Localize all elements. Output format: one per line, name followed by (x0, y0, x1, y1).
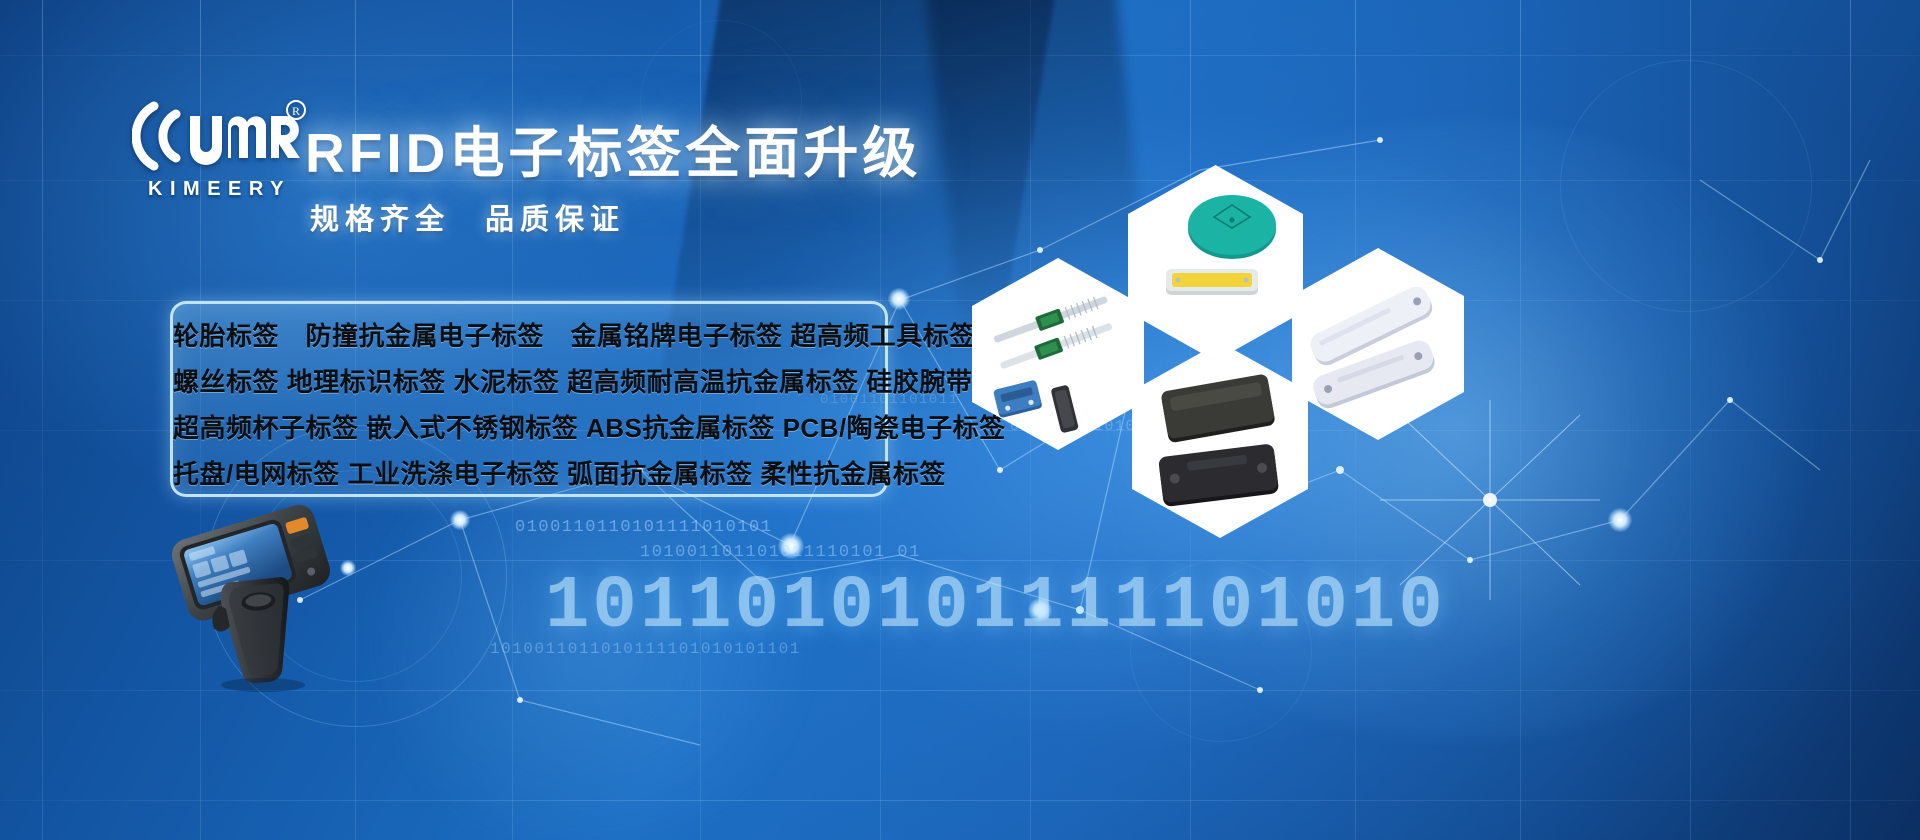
rfid-promo-banner: 0100110110101111010101 10100110110101111… (0, 0, 1920, 840)
kimeery-wordmark: KIMEERY (132, 178, 307, 201)
product-list-box: 轮胎标签 防撞抗金属电子标签 金属铭牌电子标签 超高频工具标签 螺丝标签 地理标… (170, 301, 888, 497)
kimeery-logo-mark: R (132, 96, 307, 176)
handheld-rfid-reader (155, 505, 370, 695)
hex-cell-round-teal-tag (1128, 165, 1303, 361)
product-list-row: 螺丝标签 地理标识标签 水泥标签 超高频耐高温抗金属标签 硅胶腕带 (173, 359, 885, 405)
lens-flare (1380, 400, 1600, 600)
product-list-row: 托盘/电网标签 工业洗涤电子标签 弧面抗金属标签 柔性抗金属标签 (173, 451, 885, 497)
product-list-row: 轮胎标签 防撞抗金属电子标签 金属铭牌电子标签 超高频工具标签 (173, 313, 885, 359)
binary-line: 0100110110101111010101 (515, 518, 772, 537)
binary-large-text: 1011010101111101010 (545, 565, 1446, 649)
hex-cell-black-anti-metal-tags (1132, 342, 1308, 538)
svg-text:R: R (292, 104, 300, 118)
hex-cell-white-flexible-tags (1292, 248, 1464, 440)
binary-line: 1010011011010111101010101101 (490, 640, 801, 658)
page-subtitle: 规格齐全 品质保证 (310, 196, 625, 238)
white-flexible-rfid-tags (1292, 248, 1464, 440)
registered-trademark-icon: R (287, 101, 305, 119)
product-list-row: 超高频杯子标签 嵌入式不锈钢标签 ABS抗金属标签 PCB/陶瓷电子标签 (173, 405, 885, 451)
binary-line: 101001101101011110101 01 (640, 543, 921, 562)
kimeery-logo: R KIMEERY (132, 96, 307, 206)
page-title: RFID电子标签全面升级 (305, 108, 921, 188)
round-teal-rfid-tag (1128, 165, 1303, 361)
black-anti-metal-tags (1132, 342, 1308, 538)
